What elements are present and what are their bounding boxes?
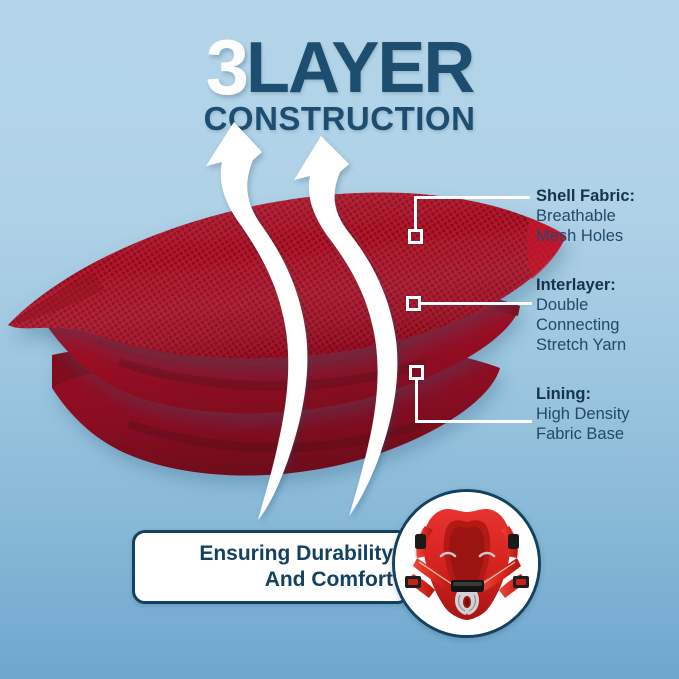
callout-line1-lining: High Density: [536, 404, 630, 424]
tagline-line2: And Comfort: [199, 567, 393, 593]
callout-text-interlayer: Interlayer: Double Connecting Stretch Ya…: [536, 275, 626, 356]
callout-marker-icon-interlayer: [406, 296, 421, 311]
tagline-line1: Ensuring Durability: [199, 541, 393, 567]
callout-heading-interlayer: Interlayer:: [536, 275, 626, 295]
callout-text-shell: Shell Fabric: Breathable Mesh Holes: [536, 186, 635, 246]
callout-line2-shell: Mesh Holes: [536, 226, 635, 246]
connector-horizontal-shell: [414, 196, 530, 199]
connector-vertical-shell: [414, 196, 417, 232]
callout-line2-lining: Fabric Base: [536, 424, 630, 444]
callout-line3-interlayer: Stretch Yarn: [536, 335, 626, 355]
infographic-canvas: 3LAYER CONSTRUCTION: [0, 0, 679, 679]
title-main-row: 3LAYER: [0, 28, 679, 106]
callout-line2-interlayer: Connecting: [536, 315, 626, 335]
callout-line1-interlayer: Double: [536, 295, 626, 315]
callout-line1-shell: Breathable: [536, 206, 635, 226]
callout-marker-icon-lining: [409, 365, 424, 380]
page-title: 3LAYER CONSTRUCTION: [0, 28, 679, 135]
product-photo: [392, 489, 541, 638]
callout-heading-shell: Shell Fabric:: [536, 186, 635, 206]
callout-heading-lining: Lining:: [536, 384, 630, 404]
connector-vertical-lining: [415, 379, 418, 423]
connector-horizontal-interlayer: [420, 302, 532, 305]
tagline-banner: Ensuring Durability And Comfort: [132, 530, 410, 604]
connector-horizontal-lining: [415, 420, 532, 423]
title-word-layer: LAYER: [246, 28, 473, 108]
callout-text-lining: Lining: High Density Fabric Base: [536, 384, 630, 444]
tagline-text: Ensuring Durability And Comfort: [199, 541, 393, 592]
title-number: 3: [206, 23, 246, 111]
